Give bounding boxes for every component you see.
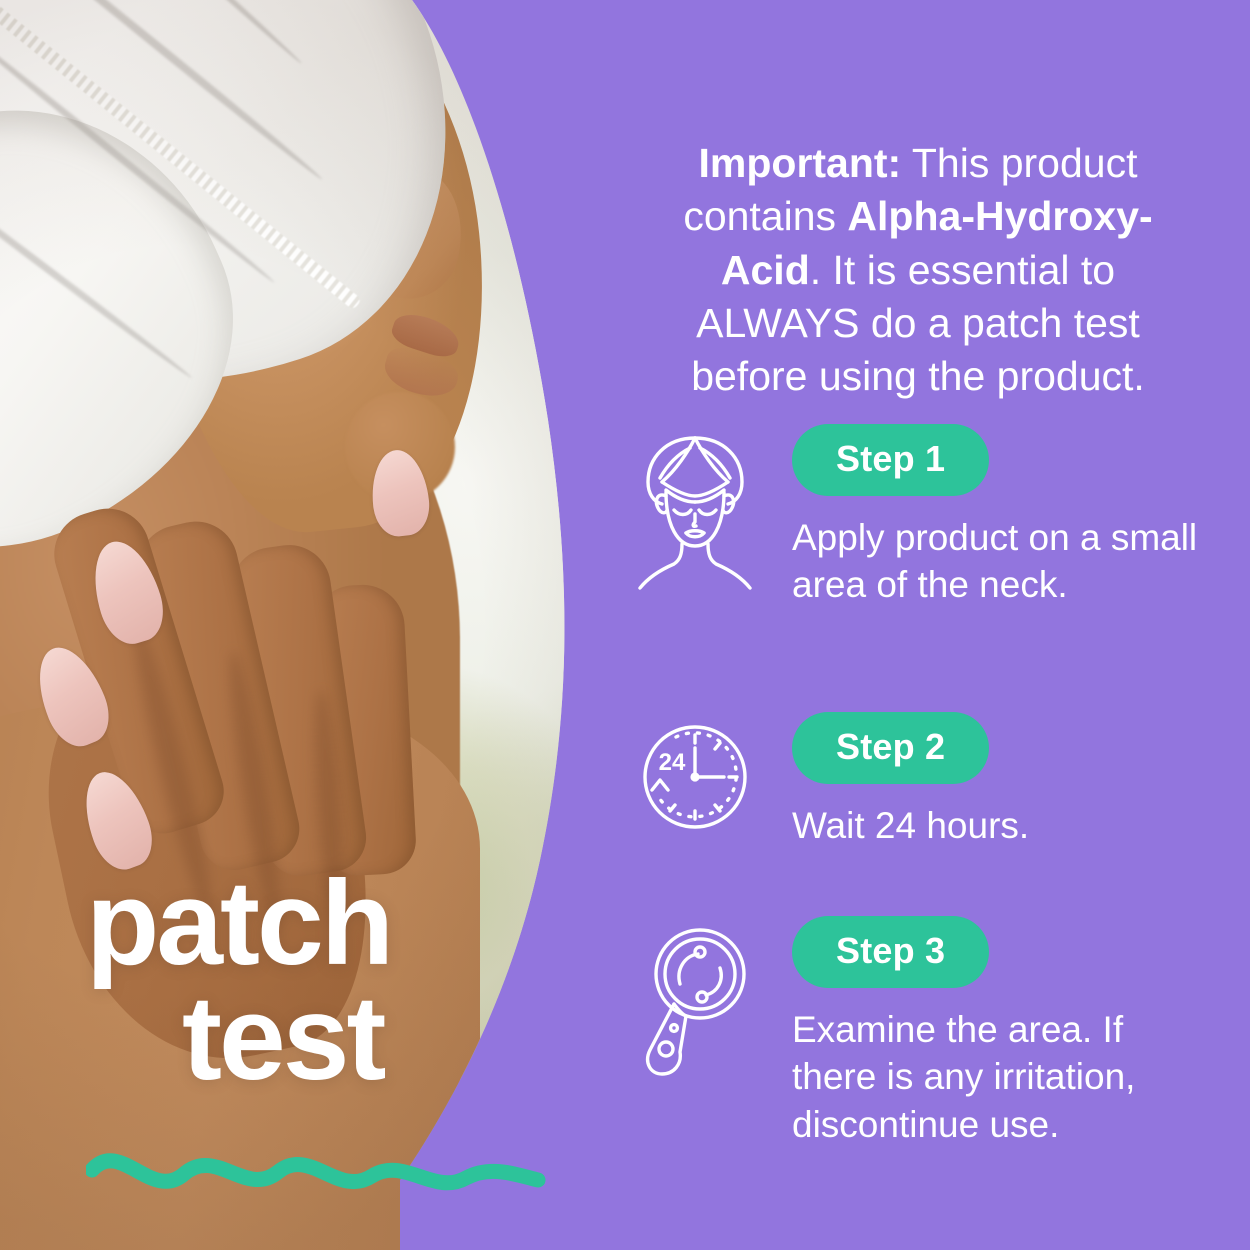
important-notice: Important: This product contains Alpha-H… — [638, 137, 1198, 403]
wavy-line-divider-icon — [86, 1140, 546, 1206]
step-3-badge: Step 3 — [792, 916, 989, 988]
infographic-canvas: patch test Important: This product conta… — [0, 0, 1250, 1250]
step-item-2: 24 Step 2 Wait 24 hours. — [620, 712, 1250, 886]
face-towel-turban-icon — [636, 430, 754, 590]
step-1-body: Step 1 Apply product on a small area of … — [770, 424, 1250, 646]
step-3-icon-wrap — [620, 916, 770, 1082]
step-item-1: Step 1 Apply product on a small area of … — [620, 424, 1250, 646]
page-title-line-2: test — [182, 981, 606, 1096]
step-1-icon-wrap — [620, 424, 770, 590]
step-1-badge: Step 1 — [792, 424, 989, 496]
magnifying-glass-icon — [636, 922, 754, 1082]
content-column: Important: This product contains Alpha-H… — [620, 0, 1250, 1250]
step-3-text: Examine the area. If there is any irrita… — [792, 1006, 1210, 1148]
step-2-icon-wrap: 24 — [620, 712, 770, 836]
step-2-badge: Step 2 — [792, 712, 989, 784]
step-2-text: Wait 24 hours. — [792, 802, 1210, 849]
clock-24-hours-icon: 24 — [636, 718, 754, 836]
page-title: patch test — [86, 866, 606, 1096]
step-2-body: Step 2 Wait 24 hours. — [770, 712, 1250, 886]
page-title-line-1: patch — [86, 866, 606, 981]
step-3-body: Step 3 Examine the area. If there is any… — [770, 916, 1250, 1185]
notice-lead: Important: — [699, 140, 902, 186]
step-item-3: Step 3 Examine the area. If there is any… — [620, 916, 1250, 1185]
step-1-text: Apply product on a small area of the nec… — [792, 514, 1210, 609]
clock-24-label: 24 — [659, 749, 686, 776]
